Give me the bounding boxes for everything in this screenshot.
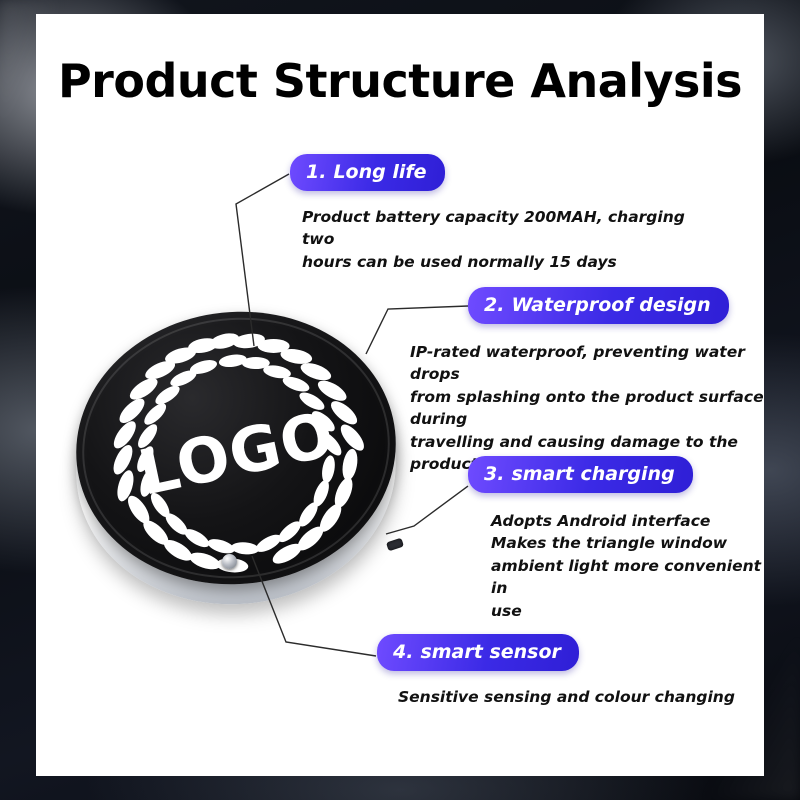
callout-label-1: Long life	[333, 161, 426, 183]
callout-number-4: 4.	[393, 641, 413, 663]
callout-number-2: 2.	[484, 294, 504, 316]
callout-label-4: smart sensor	[420, 641, 560, 663]
callout-body-1: Product battery capacity 200MAH, chargin…	[302, 206, 722, 273]
callout-body-3: Adopts Android interface Makes the trian…	[491, 510, 764, 622]
callout-body-4: Sensitive sensing and colour changing	[398, 686, 738, 708]
callout-number-3: 3.	[484, 463, 504, 485]
product-info-card: Product Structure Analysis	[36, 14, 764, 776]
callout-pill-3[interactable]: 3. smart charging	[468, 456, 693, 493]
callout-label-3: smart charging	[511, 463, 674, 485]
callout-number-1: 1.	[306, 161, 326, 183]
product-top-face: LOGO	[63, 296, 410, 600]
callout-pill-2[interactable]: 2. Waterproof design	[468, 287, 729, 324]
product-photo: LOGO	[62, 302, 422, 622]
page-title: Product Structure Analysis	[36, 54, 764, 108]
callout-pill-1[interactable]: 1. Long life	[290, 154, 445, 191]
callout-pill-4[interactable]: 4. smart sensor	[377, 634, 579, 671]
callout-label-2: Waterproof design	[511, 294, 710, 316]
poster-stage: Product Structure Analysis	[0, 0, 800, 800]
sensor-dot-icon	[222, 554, 237, 569]
